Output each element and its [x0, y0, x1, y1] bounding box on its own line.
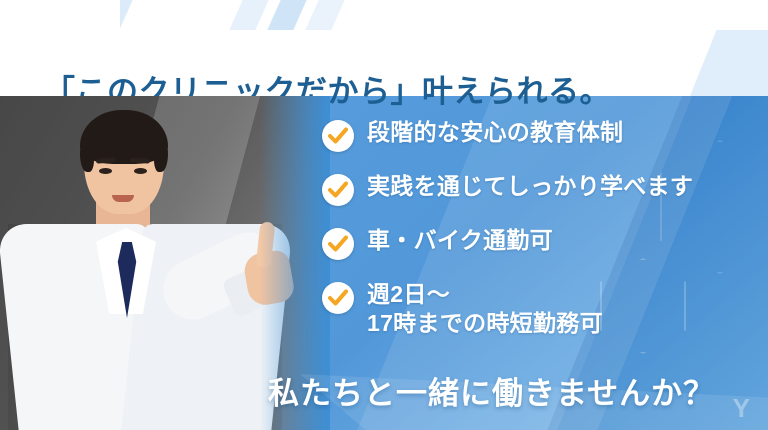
check-icon — [322, 174, 354, 206]
check-icon — [322, 228, 354, 260]
list-item-label: 週2日〜 17時までの時短勤務可 — [367, 280, 603, 338]
recruitment-banner: 「このクリニックだから」叶えられる。 — [0, 0, 768, 430]
check-icon — [322, 282, 354, 314]
person-mouth — [112, 195, 134, 202]
list-item-label: 段階的な安心の教育体制 — [367, 118, 623, 147]
list-item: 週2日〜 17時までの時短勤務可 — [322, 280, 752, 338]
corner-mark: Y — [733, 393, 750, 424]
footer-message: 私たちと一緒に働きませんか？ — [268, 368, 715, 413]
title-bar: 「このクリニックだから」叶えられる。 — [0, 30, 768, 96]
list-item: 車・バイク通勤可 — [322, 226, 752, 260]
person-eye-right — [134, 168, 147, 174]
list-item: 段階的な安心の教育体制 — [322, 118, 752, 152]
list-item-label: 実践を通じてしっかり学べます — [367, 172, 693, 201]
person-hair-right — [154, 136, 168, 172]
list-item-label: 車・バイク通勤可 — [367, 226, 553, 255]
benefits-list: 段階的な安心の教育体制 実践を通じてしっかり学べます 車・バイク通勤可 — [322, 118, 752, 358]
list-item: 実践を通じてしっかり学べます — [322, 172, 752, 206]
person-hair-left — [80, 136, 94, 172]
check-icon — [322, 120, 354, 152]
person-eye-left — [99, 168, 112, 174]
